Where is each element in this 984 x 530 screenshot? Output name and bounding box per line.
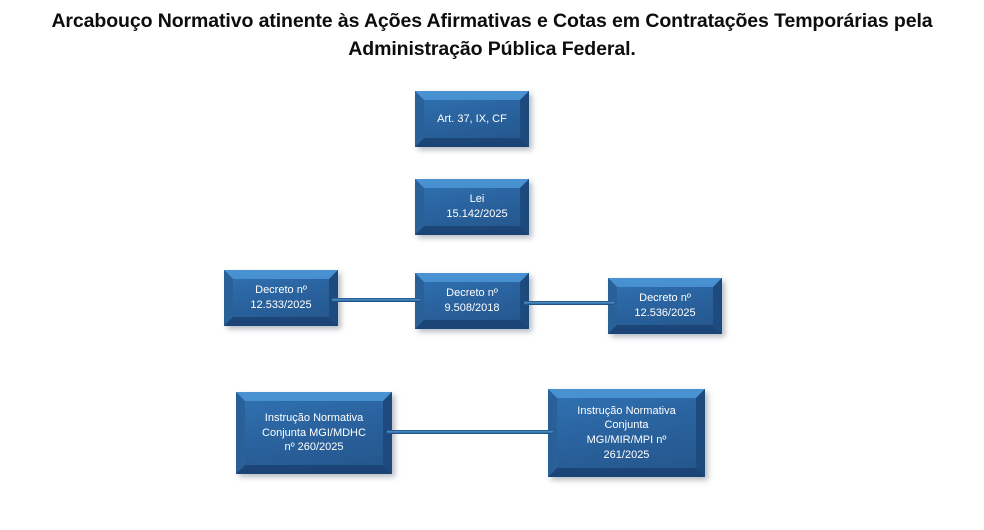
node-decreto12533[interactable]: Decreto nº 12.533/2025 <box>224 270 338 326</box>
diagram-canvas: Art. 37, IX, CF Lei 15.142/2025 Decreto … <box>0 0 984 530</box>
node-label: Decreto nº 12.536/2025 <box>608 278 722 334</box>
node-label: Decreto nº 12.533/2025 <box>224 270 338 326</box>
node-label: Decreto nº 9.508/2018 <box>415 273 529 329</box>
node-art37[interactable]: Art. 37, IX, CF <box>415 91 529 147</box>
node-label: Lei 15.142/2025 <box>415 179 529 235</box>
node-in260[interactable]: Instrução Normativa Conjunta MGI/MDHC nº… <box>236 392 392 474</box>
connector-decreto9508-decreto12536 <box>524 301 614 305</box>
connector-in260-in261 <box>387 430 553 434</box>
node-label: Instrução Normativa Conjunta MGI/MDHC nº… <box>236 392 392 474</box>
connector-decreto12533-decreto9508 <box>332 298 420 302</box>
node-label: Art. 37, IX, CF <box>415 91 529 147</box>
node-decreto9508[interactable]: Decreto nº 9.508/2018 <box>415 273 529 329</box>
node-lei[interactable]: Lei 15.142/2025 <box>415 179 529 235</box>
node-decreto12536[interactable]: Decreto nº 12.536/2025 <box>608 278 722 334</box>
node-label: Instrução Normativa Conjunta MGI/MIR/MPI… <box>548 389 705 477</box>
node-in261[interactable]: Instrução Normativa Conjunta MGI/MIR/MPI… <box>548 389 705 477</box>
